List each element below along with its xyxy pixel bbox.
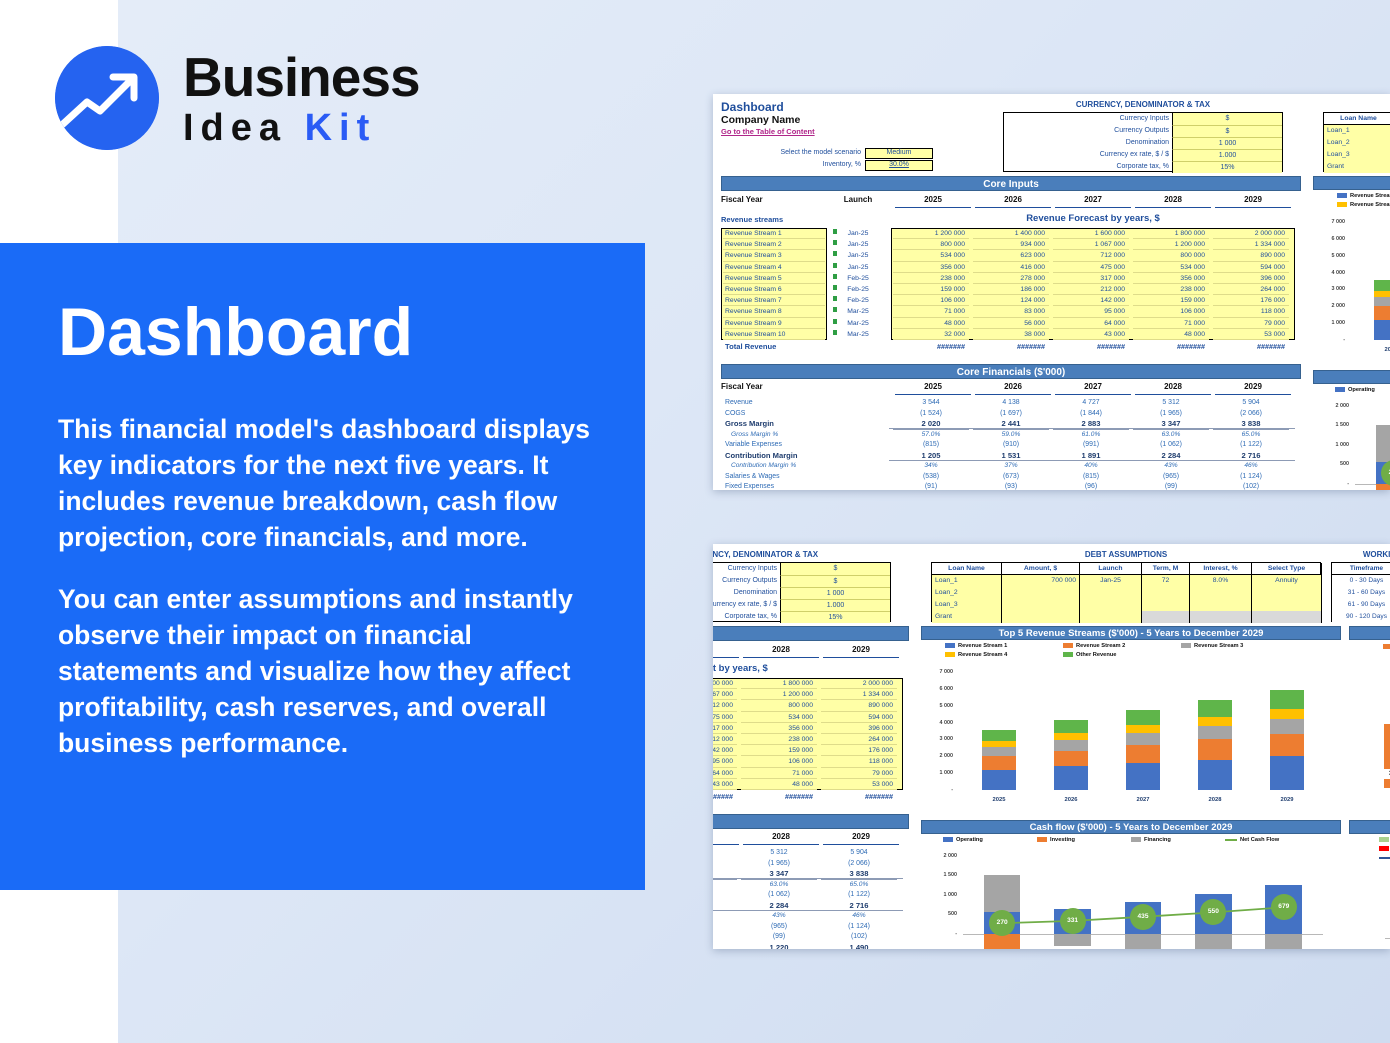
bar-segment bbox=[1270, 756, 1303, 790]
dashboard-screenshot-top[interactable]: DashboardCompany NameGo to the Table of … bbox=[713, 94, 1390, 490]
revenue-value-cell[interactable]: 142 000 bbox=[1053, 295, 1129, 306]
hero-panel: Dashboard This financial model's dashboa… bbox=[0, 243, 645, 890]
x-axis-label: 2028 bbox=[1193, 796, 1237, 805]
currency-row-label: Corporate tax, % bbox=[713, 611, 780, 623]
debt-cell[interactable] bbox=[1142, 587, 1190, 599]
core-inputs-band: Core Inputs bbox=[713, 626, 909, 641]
bar-segment bbox=[1198, 739, 1231, 759]
debt-cell[interactable]: Jan-25 bbox=[1080, 575, 1142, 587]
core-financials-cell: (1 124) bbox=[1213, 472, 1289, 483]
currency-row-value[interactable]: 1.000 bbox=[1172, 149, 1282, 161]
wc-cell[interactable]: 31 - 60 Days bbox=[1332, 587, 1390, 599]
revenue-value-cell[interactable]: 416 000 bbox=[973, 262, 1049, 273]
bar-segment bbox=[1054, 720, 1087, 733]
legend-item: Revenue Stream 3 bbox=[1181, 642, 1299, 650]
core-financials-cell: (2 066) bbox=[821, 859, 897, 870]
revenue-launch-cell[interactable]: Jan-25 bbox=[831, 239, 885, 250]
revenue-value-cell[interactable]: 79 000 bbox=[1213, 318, 1289, 329]
revenue-value-cell[interactable]: 712 000 bbox=[1053, 250, 1129, 261]
core-financials-cell: 61.0% bbox=[713, 880, 737, 891]
y-axis-tick: 6 000 bbox=[1315, 235, 1345, 243]
core-financials-year-header: 2029 bbox=[1215, 382, 1291, 395]
wc-cell[interactable]: 90 - 120 Days bbox=[1332, 611, 1390, 623]
core-financials-cell: (965) bbox=[741, 922, 817, 933]
data-label-bubble: 435 bbox=[1130, 904, 1156, 930]
revenue-value-cell[interactable]: 64 000 bbox=[1053, 318, 1129, 329]
debt-col-header: Loan Name bbox=[932, 563, 1002, 575]
revenue-stream-name[interactable]: Revenue Stream 6 bbox=[723, 284, 825, 295]
bar-segment bbox=[982, 730, 1015, 741]
year-header: 2028 bbox=[1135, 195, 1211, 208]
revenue-stream-name[interactable]: Revenue Stream 2 bbox=[723, 239, 825, 250]
total-revenue-value: ####### bbox=[713, 792, 737, 804]
revenue-stream-name[interactable]: Revenue Stream 7 bbox=[723, 295, 825, 306]
chart-cash-flow[interactable]: Cash flow ($'000) - 5 Years to December … bbox=[921, 820, 1341, 949]
debt-cell[interactable] bbox=[1252, 611, 1322, 623]
revenue-value-cell[interactable]: 186 000 bbox=[973, 284, 1049, 295]
core-financials-cell: 63.0% bbox=[741, 880, 817, 891]
core-financials-cell: (538) bbox=[893, 472, 969, 483]
debt-cell[interactable] bbox=[1190, 611, 1252, 623]
y-axis-tick: 4 000 bbox=[923, 719, 953, 727]
revenue-value-cell[interactable]: 356 000 bbox=[893, 262, 969, 273]
x-axis-label: 2026 bbox=[1049, 796, 1093, 805]
debt-cell[interactable] bbox=[1190, 599, 1252, 611]
revenue-value-cell[interactable]: 238 000 bbox=[1133, 284, 1209, 295]
debt-cell[interactable] bbox=[1142, 599, 1190, 611]
currency-row-label: Denomination bbox=[1004, 137, 1172, 149]
revenue-value-cell[interactable]: 2 000 000 bbox=[1213, 228, 1289, 239]
debt-cell[interactable]: 8.0% bbox=[1190, 575, 1252, 587]
revenue-value-cell[interactable]: 1 200 000 bbox=[893, 228, 969, 239]
revenue-value-cell[interactable]: 79 000 bbox=[821, 768, 897, 779]
bar-segment bbox=[1374, 297, 1390, 306]
y-axis-tick: 6 000 bbox=[923, 685, 953, 693]
sheet-company-name: Company Name bbox=[721, 114, 881, 126]
revenue-launch-cell[interactable]: Mar-25 bbox=[831, 329, 885, 340]
revenue-value-cell[interactable]: 238 000 bbox=[893, 273, 969, 284]
core-financials-year-header: 2028 bbox=[743, 832, 819, 845]
revenue-value-cell[interactable]: 594 000 bbox=[1213, 262, 1289, 273]
debt-cell[interactable] bbox=[1142, 611, 1190, 623]
revenue-value-cell[interactable]: 278 000 bbox=[973, 273, 1049, 284]
debt-table: Loan NameAmount, $LaunchTerm, MInterest,… bbox=[931, 562, 1321, 622]
brand-idea-text: Idea bbox=[183, 107, 305, 149]
debt-cell[interactable]: Loan_2 bbox=[1324, 137, 1390, 149]
revenue-stream-name[interactable]: Revenue Stream 4 bbox=[723, 262, 825, 273]
revenue-value-cell[interactable]: 356 000 bbox=[741, 723, 817, 734]
debt-cell[interactable]: Loan_3 bbox=[932, 599, 1002, 611]
core-financials-band: Core Financials ($'000) bbox=[713, 814, 909, 829]
revenue-value-cell[interactable]: 934 000 bbox=[973, 239, 1049, 250]
revenue-value-cell[interactable]: 396 000 bbox=[821, 723, 897, 734]
revenue-launch-cell[interactable]: Mar-25 bbox=[831, 318, 885, 329]
revenue-stream-name[interactable]: Revenue Stream 1 bbox=[723, 228, 825, 239]
revenue-value-cell[interactable]: 95 000 bbox=[713, 756, 737, 767]
currency-row-value[interactable]: 15% bbox=[780, 611, 890, 623]
revenue-value-cell[interactable]: 317 000 bbox=[713, 723, 737, 734]
core-financials-cell: 1 490 bbox=[821, 943, 897, 950]
core-financials-cell: (96) bbox=[713, 932, 737, 943]
revenue-value-cell[interactable]: 890 000 bbox=[821, 700, 897, 711]
legend-item: Other Revenue bbox=[1063, 651, 1181, 659]
revenue-value-cell[interactable]: 142 000 bbox=[713, 745, 737, 756]
revenue-value-cell[interactable]: 1 800 000 bbox=[741, 678, 817, 689]
core-financials-cell: (102) bbox=[821, 932, 897, 943]
currency-row-value[interactable]: 1 000 bbox=[780, 587, 890, 599]
revenue-value-cell[interactable]: 71 000 bbox=[1133, 318, 1209, 329]
revenue-value-cell[interactable]: 396 000 bbox=[1213, 273, 1289, 284]
core-financials-cell: 4 727 bbox=[713, 848, 737, 859]
bar-segment bbox=[982, 741, 1015, 747]
y-axis-tick: 2 000 bbox=[923, 752, 953, 760]
revenue-launch-cell[interactable]: Mar-25 bbox=[831, 306, 885, 317]
total-revenue-value: ####### bbox=[1053, 342, 1129, 354]
y-axis-tick: 3 000 bbox=[1315, 285, 1345, 293]
currency-block-header: CURRENCY, DENOMINATOR & TAX bbox=[1003, 100, 1283, 111]
core-financials-cell: 5 312 bbox=[1133, 398, 1209, 409]
debt-cell[interactable]: Loan_1 bbox=[1324, 125, 1390, 137]
debt-cell[interactable] bbox=[1252, 599, 1322, 611]
core-inputs-band: Core Inputs bbox=[721, 176, 1301, 191]
brand-kit-text: Kit bbox=[305, 107, 377, 149]
currency-row-value[interactable]: 1.000 bbox=[780, 599, 890, 611]
revenue-stream-name[interactable]: Revenue Stream 3 bbox=[723, 250, 825, 261]
debt-cell[interactable]: Loan_3 bbox=[1324, 149, 1390, 161]
debt-block-header: DEBT ASSUMPTIONS bbox=[931, 550, 1321, 561]
core-financials-cell: 1 220 bbox=[741, 943, 817, 950]
debt-cell[interactable]: Grant bbox=[932, 611, 1002, 623]
revenue-value-cell[interactable]: 1 067 000 bbox=[713, 689, 737, 700]
debt-cell[interactable] bbox=[1252, 587, 1322, 599]
core-financials-cell: 3 544 bbox=[893, 398, 969, 409]
revenue-value-cell[interactable]: 106 000 bbox=[1133, 306, 1209, 317]
revenue-value-cell[interactable]: 124 000 bbox=[973, 295, 1049, 306]
bar-segment bbox=[1126, 733, 1159, 745]
debt-col-header: Interest, % bbox=[1190, 563, 1252, 575]
debt-cell[interactable]: 72 bbox=[1142, 575, 1190, 587]
core-financials-cell: (815) bbox=[1053, 472, 1129, 483]
bar-segment bbox=[1198, 717, 1231, 726]
revenue-launch-cell[interactable]: Jan-25 bbox=[831, 250, 885, 261]
bar-segment bbox=[1126, 745, 1159, 763]
year-header: 2025 bbox=[895, 195, 971, 208]
bar-segment bbox=[1198, 726, 1231, 739]
core-financials-cell: (1 844) bbox=[1053, 409, 1129, 420]
revenue-stream-name[interactable]: Revenue Stream 5 bbox=[723, 273, 825, 284]
chart-cumulative-cashflow[interactable]: Cumulative CashFlow ($'000) - 5 Years to… bbox=[1349, 820, 1390, 949]
revenue-value-cell[interactable]: 1 600 000 bbox=[713, 678, 737, 689]
core-financials-cell: (1 965) bbox=[741, 859, 817, 870]
year-header: 2028 bbox=[743, 645, 819, 658]
revenue-value-cell[interactable]: 534 000 bbox=[741, 712, 817, 723]
currency-row-value[interactable]: $ bbox=[780, 575, 890, 587]
revenue-value-cell[interactable]: 475 000 bbox=[713, 712, 737, 723]
core-financials-cell: (1 122) bbox=[821, 890, 897, 901]
inventory-value[interactable]: 30.0% bbox=[865, 160, 933, 171]
currency-row-value[interactable]: 1 000 bbox=[1172, 137, 1282, 149]
core-financials-row-label: COGS bbox=[725, 409, 885, 420]
debt-cell[interactable] bbox=[1002, 599, 1080, 611]
page-title: Dashboard bbox=[58, 295, 599, 369]
revenue-value-cell[interactable]: 38 000 bbox=[973, 329, 1049, 340]
core-financials-cell: (102) bbox=[1213, 482, 1289, 490]
revenue-forecast-title: Revenue Forecast by years, $ bbox=[713, 663, 899, 676]
inventory-label: Inventory, % bbox=[743, 161, 861, 171]
revenue-value-cell[interactable]: 800 000 bbox=[1133, 250, 1209, 261]
core-financials-cell: 5 904 bbox=[1213, 398, 1289, 409]
revenue-stream-name[interactable]: Revenue Stream 9 bbox=[723, 318, 825, 329]
debt-cell[interactable] bbox=[1190, 587, 1252, 599]
core-financials-cell: 37% bbox=[973, 461, 1049, 472]
core-financials-cell: 34% bbox=[893, 461, 969, 472]
revenue-value-cell[interactable]: 534 000 bbox=[1133, 262, 1209, 273]
core-financials-band: Core Financials ($'000) bbox=[721, 364, 1301, 379]
line-series-cash-balance bbox=[1349, 820, 1390, 949]
data-label-bubble: 331 bbox=[1060, 908, 1086, 934]
revenue-value-cell[interactable]: 1 400 000 bbox=[973, 228, 1049, 239]
debt-col-header: Select Type bbox=[1252, 563, 1322, 575]
core-financials-year-header: 2028 bbox=[1135, 382, 1211, 395]
wc-col-header: Timeframe bbox=[1332, 563, 1390, 575]
growth-arrow-icon bbox=[55, 46, 159, 150]
revenue-value-cell[interactable]: 534 000 bbox=[893, 250, 969, 261]
chart-revenue-streams[interactable]: Top 5 Revenue Streams ($'000) - 5 Years … bbox=[1313, 176, 1390, 366]
currency-row-label: Currency ex rate, $ / $ bbox=[713, 599, 780, 611]
core-financials-year-header: 2025 bbox=[895, 382, 971, 395]
core-financials-cell: 43% bbox=[741, 911, 817, 922]
revenue-value-cell[interactable]: 159 000 bbox=[741, 745, 817, 756]
revenue-launch-cell[interactable]: Jan-25 bbox=[831, 228, 885, 239]
core-financials-cell: (910) bbox=[973, 440, 1049, 451]
core-financials-row-label: Gross Margin bbox=[725, 419, 885, 430]
core-financials-cell: 46% bbox=[821, 911, 897, 922]
revenue-value-cell[interactable]: 159 000 bbox=[893, 284, 969, 295]
revenue-value-cell[interactable]: 1 800 000 bbox=[1133, 228, 1209, 239]
line-series-net-cash-flow bbox=[921, 820, 1341, 949]
revenue-value-cell[interactable]: 212 000 bbox=[713, 734, 737, 745]
chart-revenue-streams[interactable]: Top 5 Revenue Streams ($'000) - 5 Years … bbox=[921, 626, 1341, 816]
revenue-value-cell[interactable]: 48 000 bbox=[893, 318, 969, 329]
revenue-value-cell[interactable]: 2 000 000 bbox=[821, 678, 897, 689]
core-financials-cell: 63.0% bbox=[1133, 430, 1209, 441]
y-axis-tick: 3 000 bbox=[923, 735, 953, 743]
core-financials-cell: (1 062) bbox=[741, 890, 817, 901]
revenue-value-cell[interactable]: 32 000 bbox=[893, 329, 969, 340]
revenue-value-cell[interactable]: 623 000 bbox=[973, 250, 1049, 261]
debt-table: Loan NameAmount, $LaunchTerm, MInterest,… bbox=[1323, 112, 1390, 172]
revenue-value-cell[interactable]: 1 334 000 bbox=[821, 689, 897, 700]
revenue-value-cell[interactable]: 1 200 000 bbox=[1133, 239, 1209, 250]
core-financials-row-label: Contribution Margin % bbox=[731, 461, 891, 472]
debt-col-header: Launch bbox=[1080, 563, 1142, 575]
sheet-title: Dashboard bbox=[721, 100, 881, 114]
core-financials-year-header: 2026 bbox=[975, 382, 1051, 395]
currency-row-label: Currency Outputs bbox=[713, 575, 780, 587]
revenue-value-cell[interactable]: 800 000 bbox=[741, 700, 817, 711]
y-axis-tick: - bbox=[923, 786, 953, 794]
revenue-value-cell[interactable]: 106 000 bbox=[741, 756, 817, 767]
revenue-value-cell[interactable]: 1 334 000 bbox=[1213, 239, 1289, 250]
core-financials-cell: (1 124) bbox=[821, 922, 897, 933]
currency-row-value[interactable]: $ bbox=[1172, 125, 1282, 137]
revenue-value-cell[interactable]: 264 000 bbox=[821, 734, 897, 745]
y-axis-tick: 1 000 bbox=[1315, 319, 1345, 327]
data-label-bubble: 679 bbox=[1271, 894, 1297, 920]
debt-col-header: Term, M bbox=[1142, 563, 1190, 575]
wc-cell[interactable]: 0 - 30 Days bbox=[1332, 575, 1390, 587]
bar-segment bbox=[1054, 751, 1087, 767]
core-financials-cell: (93) bbox=[973, 482, 1049, 490]
debt-block-header: DEBT ASSUMPTIONS bbox=[1323, 100, 1390, 111]
revenue-launch-cell[interactable]: Jan-25 bbox=[831, 262, 885, 273]
revenue-value-cell[interactable]: 317 000 bbox=[1053, 273, 1129, 284]
legend-item: Revenue Stream 1 bbox=[1337, 192, 1390, 200]
brand-name-line2: Idea Kit bbox=[183, 106, 420, 150]
total-revenue-value: ####### bbox=[1133, 342, 1209, 354]
revenue-value-cell[interactable]: 43 000 bbox=[713, 779, 737, 790]
total-revenue-value: ####### bbox=[741, 792, 817, 804]
revenue-value-cell[interactable]: 594 000 bbox=[821, 712, 897, 723]
core-financials-cell: (2 066) bbox=[1213, 409, 1289, 420]
core-financials-year-header: 2029 bbox=[823, 832, 899, 845]
bar-segment bbox=[982, 756, 1015, 769]
revenue-value-cell[interactable]: 1 600 000 bbox=[1053, 228, 1129, 239]
brand-name-line1: Business bbox=[183, 50, 420, 104]
debt-cell[interactable] bbox=[1080, 587, 1142, 599]
comment-flag-icon bbox=[833, 296, 837, 301]
revenue-value-cell[interactable]: 1 200 000 bbox=[741, 689, 817, 700]
core-financials-cell: (1 844) bbox=[713, 859, 737, 870]
revenue-value-cell[interactable]: 95 000 bbox=[1053, 306, 1129, 317]
comment-flag-icon bbox=[833, 229, 837, 234]
core-financials-cell: 61.0% bbox=[1053, 430, 1129, 441]
revenue-value-cell[interactable]: 800 000 bbox=[893, 239, 969, 250]
total-revenue-value: ####### bbox=[973, 342, 1049, 354]
revenue-launch-cell[interactable]: Feb-25 bbox=[831, 284, 885, 295]
table-of-content-link[interactable]: Go to the Table of Content bbox=[721, 127, 891, 137]
legend-item: Revenue bbox=[1383, 643, 1390, 651]
revenue-value-cell[interactable]: 83 000 bbox=[973, 306, 1049, 317]
revenue-value-cell[interactable]: 53 000 bbox=[821, 779, 897, 790]
revenue-stream-name[interactable]: Revenue Stream 8 bbox=[723, 306, 825, 317]
revenue-value-cell[interactable]: 176 000 bbox=[1213, 295, 1289, 306]
core-financials-cell: (1 697) bbox=[973, 409, 1049, 420]
debt-cell[interactable] bbox=[1002, 587, 1080, 599]
launch-label: Launch bbox=[831, 195, 885, 207]
revenue-value-cell[interactable]: 43 000 bbox=[1053, 329, 1129, 340]
revenue-value-cell[interactable]: 264 000 bbox=[1213, 284, 1289, 295]
bar-segment bbox=[1270, 734, 1303, 756]
chart-cash-flow[interactable]: Cash flow ($'000) - 5 Years to December … bbox=[1313, 370, 1390, 490]
bar-segment bbox=[1126, 710, 1159, 725]
revenue-value-cell[interactable]: 159 000 bbox=[1133, 295, 1209, 306]
revenue-launch-cell[interactable]: Feb-25 bbox=[831, 295, 885, 306]
revenue-value-cell[interactable]: 1 067 000 bbox=[1053, 239, 1129, 250]
chart-profitability[interactable]: Profitability ($'000) - 5 Years to Decem… bbox=[1349, 626, 1390, 816]
dashboard-screenshot-bottom[interactable]: DashboardCompany NameGo to the Table of … bbox=[713, 544, 1390, 949]
bar-segment bbox=[1270, 719, 1303, 734]
core-financials-cell: (991) bbox=[1053, 440, 1129, 451]
revenue-value-cell[interactable]: 118 000 bbox=[821, 756, 897, 767]
fiscal-year-label: Fiscal Year bbox=[721, 195, 811, 207]
debt-cell[interactable] bbox=[1002, 611, 1080, 623]
legend-item: Revenue Stream 2 bbox=[1063, 642, 1181, 650]
revenue-value-cell[interactable]: 356 000 bbox=[1133, 273, 1209, 284]
line-series-net-cash-flow bbox=[1313, 370, 1390, 490]
revenue-value-cell[interactable]: 212 000 bbox=[1053, 284, 1129, 295]
revenue-launch-cell[interactable]: Feb-25 bbox=[831, 273, 885, 284]
core-financials-cell: 43% bbox=[1133, 461, 1209, 472]
debt-cell[interactable] bbox=[1080, 611, 1142, 623]
revenue-value-cell[interactable]: 475 000 bbox=[1053, 262, 1129, 273]
revenue-value-cell[interactable]: 48 000 bbox=[741, 779, 817, 790]
bar-segment bbox=[1270, 690, 1303, 708]
debt-cell[interactable]: Loan_2 bbox=[932, 587, 1002, 599]
revenue-stream-name[interactable]: Revenue Stream 10 bbox=[723, 329, 825, 340]
core-financials-cell: (1 524) bbox=[893, 409, 969, 420]
revenue-value-cell[interactable]: 890 000 bbox=[1213, 250, 1289, 261]
debt-cell[interactable] bbox=[1080, 599, 1142, 611]
revenue-value-cell[interactable]: 53 000 bbox=[1213, 329, 1289, 340]
revenue-value-cell[interactable]: 712 000 bbox=[713, 700, 737, 711]
core-financials-cell: 5 312 bbox=[741, 848, 817, 859]
core-financials-row-label: Gross Margin % bbox=[731, 430, 891, 441]
wc-table: TimeframeAR (Revenue)AP (COGS)0 - 30 Day… bbox=[1331, 562, 1390, 622]
core-financials-row-label: Fixed Expenses bbox=[725, 482, 885, 490]
core-financials-year-header: 2027 bbox=[713, 832, 739, 845]
x-axis-label: 2025 bbox=[977, 796, 1021, 805]
core-financials-cell: 59.0% bbox=[973, 430, 1049, 441]
debt-col-header: Loan Name bbox=[1324, 113, 1390, 125]
x-axis-label: 2027 bbox=[1121, 796, 1165, 805]
total-revenue-value: ####### bbox=[1213, 342, 1289, 354]
revenue-value-cell[interactable]: 238 000 bbox=[741, 734, 817, 745]
comment-flag-icon bbox=[833, 240, 837, 245]
core-financials-cell: (673) bbox=[973, 472, 1049, 483]
currency-row-value[interactable]: $ bbox=[780, 563, 890, 575]
data-label-revenue: 3 544 bbox=[1379, 769, 1390, 779]
debt-cell[interactable]: Loan_1 bbox=[932, 575, 1002, 587]
revenue-value-cell[interactable]: 48 000 bbox=[1133, 329, 1209, 340]
debt-cell[interactable]: Grant bbox=[1324, 161, 1390, 173]
revenue-value-cell[interactable]: 106 000 bbox=[893, 295, 969, 306]
scenario-label: Select the model scenario bbox=[743, 149, 861, 159]
revenue-value-cell[interactable]: 176 000 bbox=[821, 745, 897, 756]
comment-flag-icon bbox=[833, 251, 837, 256]
panel-paragraph-1: This financial model's dashboard display… bbox=[58, 411, 599, 555]
debt-cell[interactable]: 700 000 bbox=[1002, 575, 1080, 587]
core-financials-row-label: Variable Expenses bbox=[725, 440, 885, 451]
core-financials-row-label: Salaries & Wages bbox=[725, 472, 885, 483]
panel-paragraph-2: You can enter assumptions and instantly … bbox=[58, 581, 599, 761]
revenue-value-cell[interactable]: 71 000 bbox=[893, 306, 969, 317]
wc-cell[interactable]: 61 - 90 Days bbox=[1332, 599, 1390, 611]
comment-flag-icon bbox=[833, 330, 837, 335]
scenario-value[interactable]: Medium bbox=[865, 148, 933, 159]
chart-title: Top 5 Revenue Streams ($'000) - 5 Years … bbox=[921, 626, 1341, 640]
y-axis-tick: 2 000 bbox=[1315, 302, 1345, 310]
revenue-value-cell[interactable]: 71 000 bbox=[741, 768, 817, 779]
revenue-value-cell[interactable]: 64 000 bbox=[713, 768, 737, 779]
currency-row-value[interactable]: $ bbox=[1172, 113, 1282, 125]
revenue-value-cell[interactable]: 56 000 bbox=[973, 318, 1049, 329]
comment-flag-icon bbox=[833, 285, 837, 290]
debt-cell[interactable]: Annuity bbox=[1252, 575, 1322, 587]
total-revenue-value: ####### bbox=[893, 342, 969, 354]
revenue-value-cell[interactable]: 118 000 bbox=[1213, 306, 1289, 317]
currency-row-value[interactable]: 15% bbox=[1172, 161, 1282, 173]
